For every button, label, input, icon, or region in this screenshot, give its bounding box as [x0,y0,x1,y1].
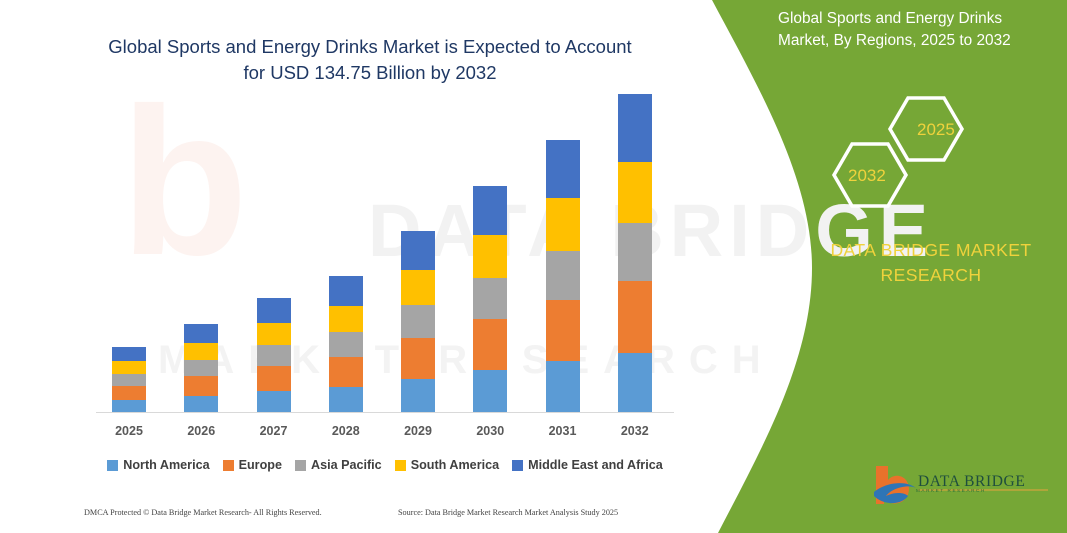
bar-column-2025 [96,100,162,413]
bar-segment [473,370,507,413]
hexagon-badge-label-2025: 2025 [917,120,955,140]
x-axis-line [96,412,674,413]
bar-column-2029 [385,100,451,413]
hexagon-badges: 2025 2032 [820,92,1000,212]
legend-swatch-icon [395,460,406,471]
legend-label: Europe [239,458,282,472]
bar-segment [257,391,291,413]
right-panel-title: Global Sports and Energy Drinks Market, … [778,8,1063,52]
bar-segment [546,251,580,300]
brand-name-line-2: RESEARCH [800,263,1062,288]
stacked-bar[interactable] [112,347,146,413]
bar-segment [618,162,652,223]
right-panel-title-line-2: Market, By Regions, 2025 to 2032 [778,30,1063,52]
bar-segment [473,278,507,319]
stacked-bar[interactable] [257,298,291,413]
chart-title-line-2: for USD 134.75 Billion by 2032 [60,60,680,86]
bar-segment [257,323,291,345]
footer-copyright: DMCA Protected © Data Bridge Market Rese… [84,508,322,517]
x-axis-label-2027: 2027 [241,424,307,438]
legend-label: Middle East and Africa [528,458,663,472]
bar-column-2028 [313,100,379,413]
bar-segment [546,300,580,361]
legend-swatch-icon [107,460,118,471]
bar-segment [112,361,146,374]
x-axis-label-2028: 2028 [313,424,379,438]
bar-segment [618,281,652,353]
stacked-bar[interactable] [546,140,580,413]
bar-segment [618,353,652,413]
bar-segment [184,324,218,343]
brand-name-line-1: DATA BRIDGE MARKET [800,238,1062,263]
legend-item[interactable]: Middle East and Africa [512,458,663,472]
bar-segment [546,361,580,413]
bar-segment [546,140,580,198]
legend-swatch-icon [512,460,523,471]
legend-item[interactable]: North America [107,458,209,472]
x-axis-label-2026: 2026 [168,424,234,438]
bar-column-2032 [602,100,668,413]
brand-name: DATA BRIDGE MARKET RESEARCH [800,238,1062,288]
bar-segment [257,366,291,392]
right-panel-title-line-1: Global Sports and Energy Drinks [778,8,1063,30]
x-axis-label-2029: 2029 [385,424,451,438]
bar-segment [184,376,218,396]
footer: DMCA Protected © Data Bridge Market Rese… [0,505,700,525]
bar-column-2027 [241,100,307,413]
legend-item[interactable]: South America [395,458,499,472]
bar-segment [112,386,146,401]
legend-label: Asia Pacific [311,458,382,472]
bar-segment [184,343,218,360]
legend-item[interactable]: Europe [223,458,282,472]
chart-legend: North AmericaEuropeAsia PacificSouth Ame… [96,455,674,475]
legend-swatch-icon [223,460,234,471]
bar-segment [329,387,363,413]
bar-segment [546,198,580,250]
stacked-bar[interactable] [184,324,218,413]
bar-segment [112,347,146,361]
legend-swatch-icon [295,460,306,471]
logo-mark-icon: DATA BRIDGE [872,462,1062,510]
bar-segment [618,223,652,281]
hexagon-badge-label-2032: 2032 [848,166,886,186]
bar-column-2026 [168,100,234,413]
x-axis-label-2025: 2025 [96,424,162,438]
x-axis-labels: 20252026202720282029203020312032 [96,424,674,444]
bar-segment [329,306,363,332]
chart-title: Global Sports and Energy Drinks Market i… [60,34,680,86]
chart-title-line-1: Global Sports and Energy Drinks Market i… [60,34,680,60]
stacked-bar[interactable] [329,276,363,413]
infographic-root: b DATA BRIDGE MARKET RESEARCH Global Spo… [0,0,1067,533]
bar-column-2031 [530,100,596,413]
stacked-bar-chart [96,100,674,413]
legend-item[interactable]: Asia Pacific [295,458,382,472]
bar-segment [184,396,218,413]
bar-segment [329,332,363,357]
bar-segment [401,338,435,379]
bar-segment [401,231,435,270]
bar-column-2030 [457,100,523,413]
data-bridge-logo: DATA BRIDGE MARKET RESEARCH [872,462,1062,510]
legend-label: North America [123,458,209,472]
hexagon-outlines-icon [820,92,1000,212]
bar-segment [184,360,218,376]
bar-segment [473,235,507,279]
x-axis-label-2032: 2032 [602,424,668,438]
bar-segment [112,374,146,386]
x-axis-label-2030: 2030 [457,424,523,438]
bar-segment [329,357,363,388]
bar-segment [257,345,291,366]
legend-label: South America [411,458,499,472]
bar-segment [401,379,435,413]
bar-segment [401,270,435,305]
bar-segment [473,319,507,370]
bar-segment [401,305,435,338]
logo-subtitle: MARKET RESEARCH [916,488,986,493]
stacked-bar[interactable] [401,231,435,413]
bar-segment [618,94,652,162]
bar-segment [473,186,507,235]
bar-segment [329,276,363,305]
stacked-bar[interactable] [473,186,507,413]
footer-source: Source: Data Bridge Market Research Mark… [398,508,618,517]
stacked-bar[interactable] [618,94,652,413]
x-axis-label-2031: 2031 [530,424,596,438]
bar-segment [257,298,291,323]
